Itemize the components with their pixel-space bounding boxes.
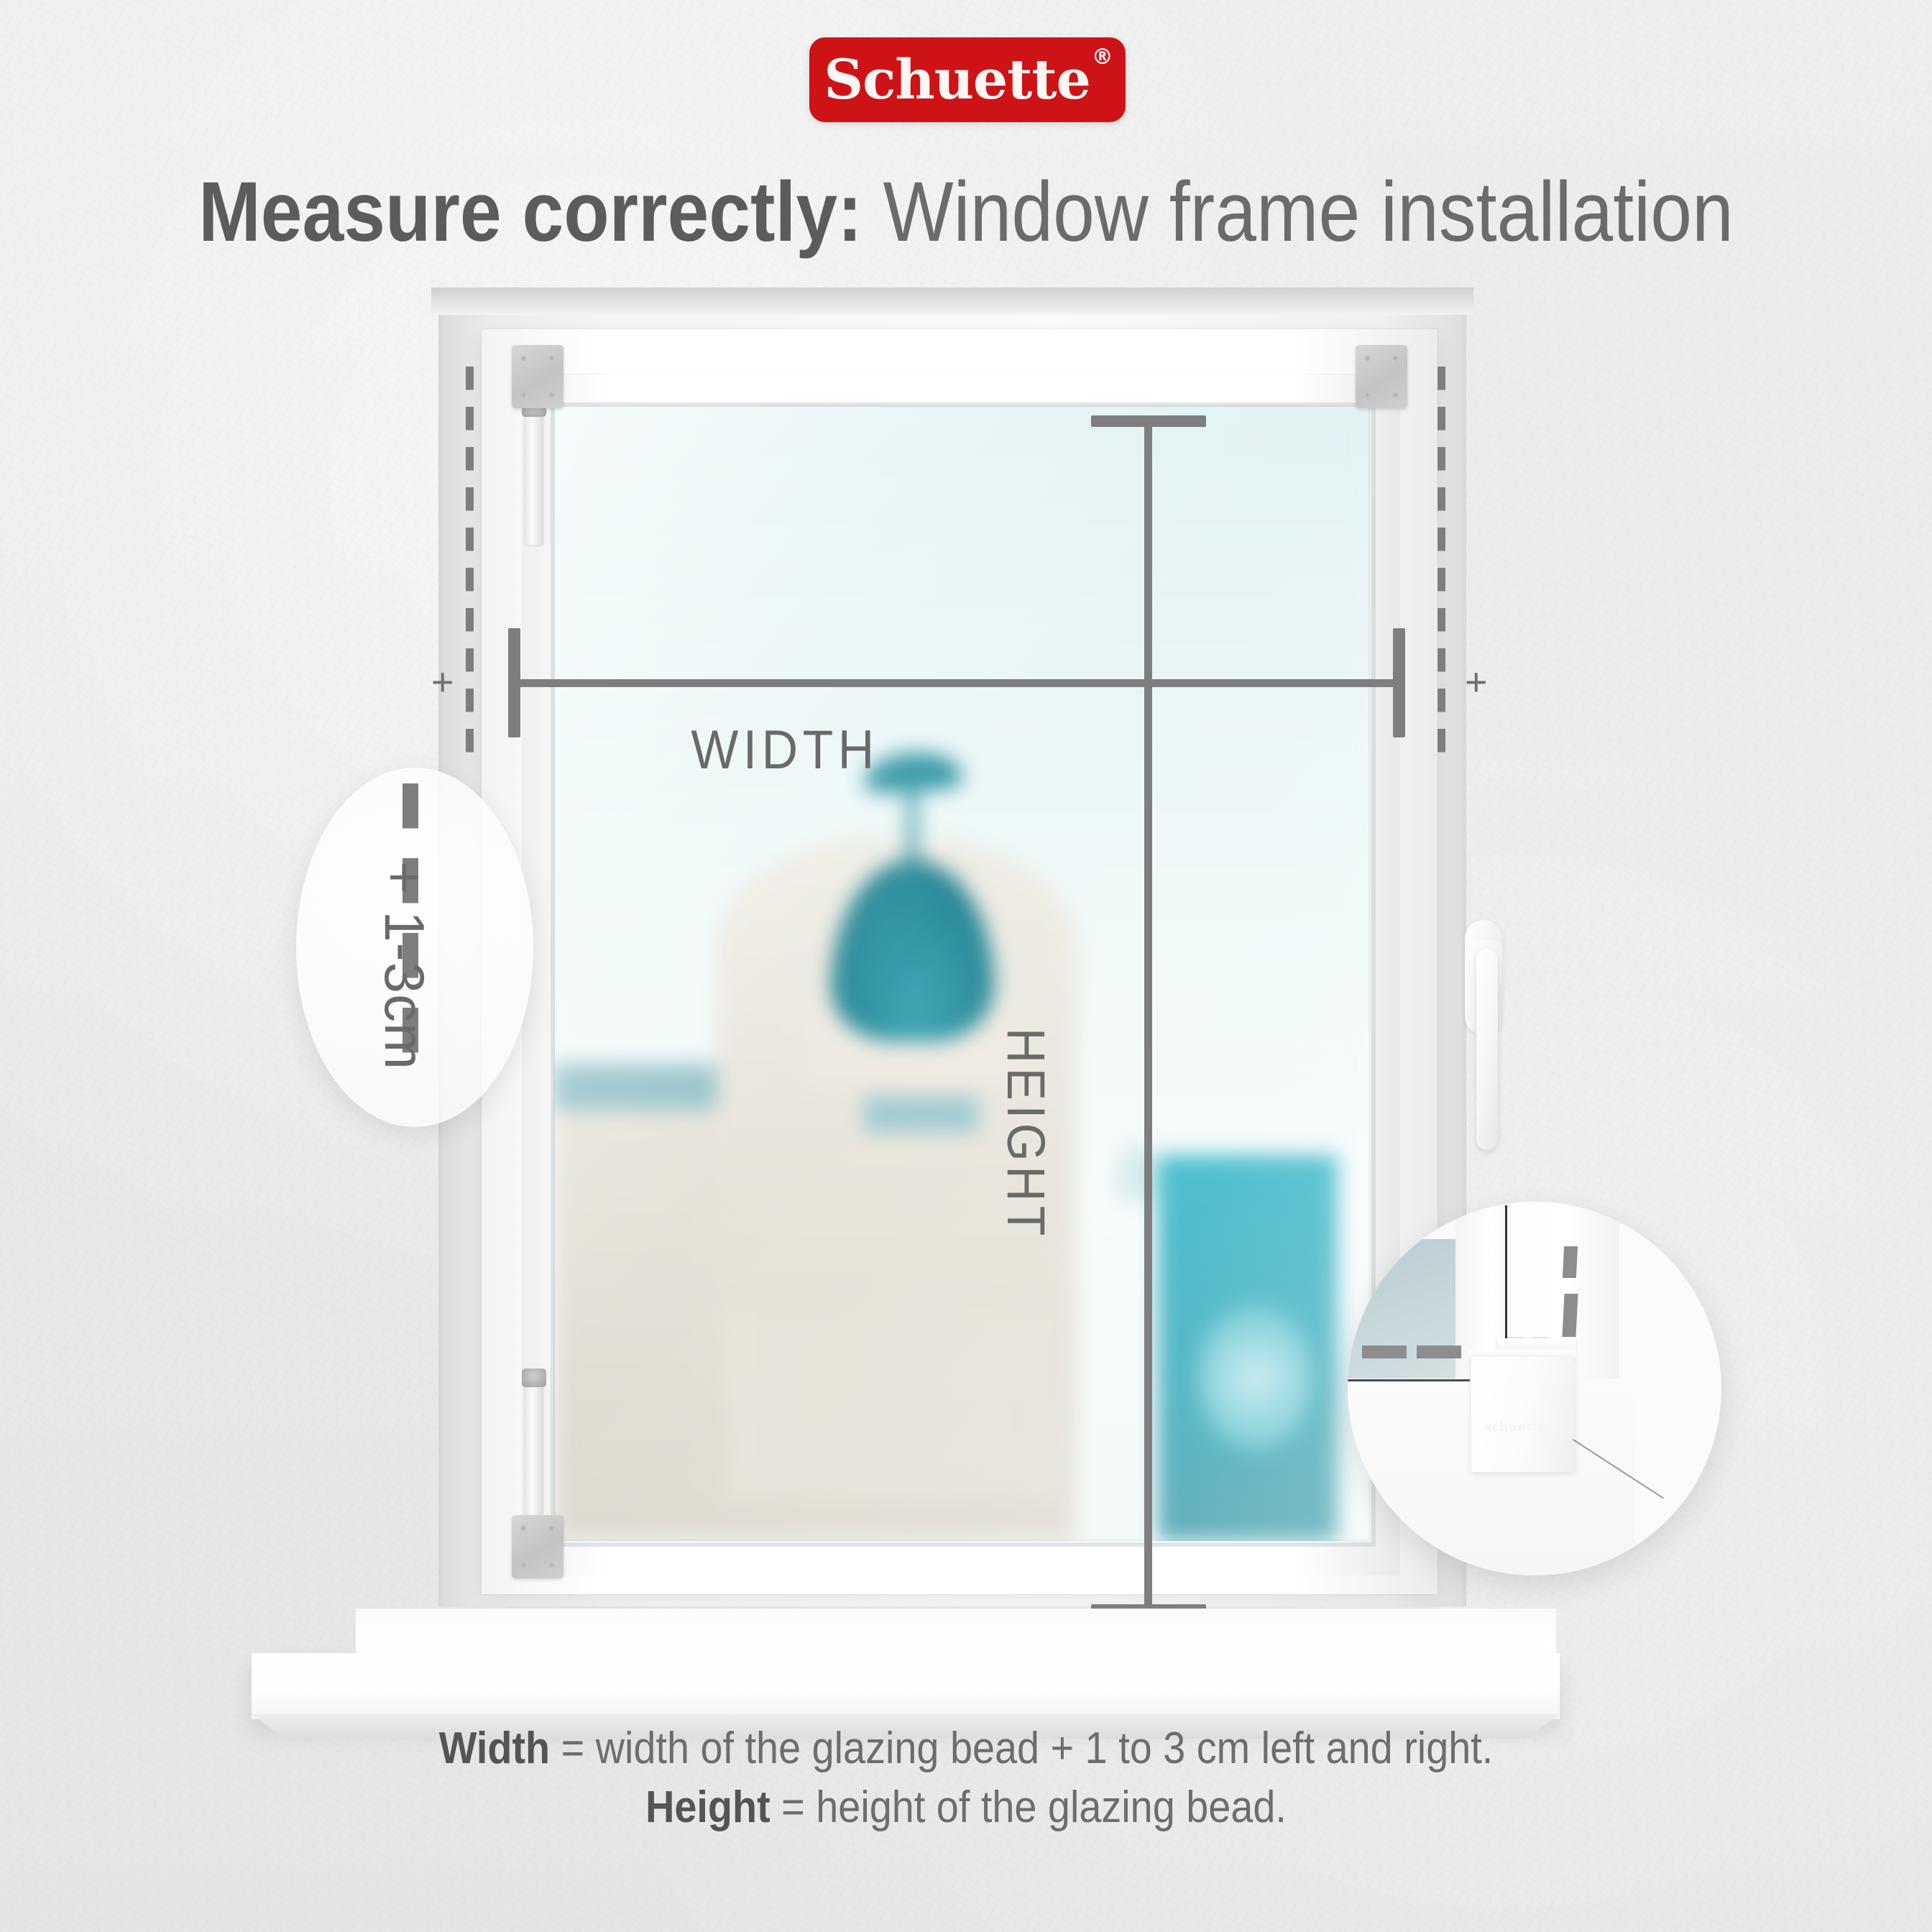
mounting-bracket-top-left bbox=[512, 345, 563, 408]
schuette-logo: Schuette® bbox=[809, 37, 1126, 122]
page-title-strong: Measure correctly: bbox=[198, 165, 862, 259]
magnified-dash-segment-2 bbox=[1562, 1294, 1578, 1337]
wall-reveal-lintel bbox=[431, 287, 1473, 315]
height-measure-bar bbox=[1144, 415, 1152, 1616]
tolerance-guide-right bbox=[1437, 367, 1445, 769]
magnified-frame-edge-line bbox=[1505, 1205, 1507, 1358]
window-diagram: WIDTH HEIGHT + + bbox=[410, 287, 1502, 1718]
billboard-circle bbox=[1198, 1302, 1312, 1450]
window-sash bbox=[522, 374, 1400, 1575]
cityscape-view bbox=[553, 405, 1370, 1541]
logo-wordmark: Schuette® bbox=[824, 52, 1111, 107]
caption-height: Height = height of the glazing bead. bbox=[96, 1778, 1835, 1837]
mounting-bracket-bottom-left bbox=[512, 1515, 563, 1578]
hinge-bottom-cap bbox=[522, 1368, 546, 1387]
magnifier-circle-bracket: schuette bbox=[1348, 1202, 1721, 1575]
roller-blind-bracket: schuette bbox=[1471, 1357, 1575, 1472]
caption-height-rest: = height of the glazing bead. bbox=[770, 1782, 1287, 1832]
caption-width-rest: = width of the glazing bead + 1 to 3 cm … bbox=[550, 1724, 1493, 1773]
magnifier-circle-tolerance: + 1-3cm bbox=[296, 768, 533, 1127]
magnifier-tolerance-content: + 1-3cm bbox=[296, 768, 533, 1127]
registered-trademark-icon: ® bbox=[1092, 45, 1113, 70]
window-sill bbox=[252, 1653, 1560, 1719]
window-outer-frame bbox=[482, 329, 1437, 1594]
magnified-bead-mark-2 bbox=[1417, 1345, 1461, 1358]
footer-captions: Width = width of the glazing bead + 1 to… bbox=[0, 1719, 1932, 1837]
tolerance-label: + 1-3cm bbox=[372, 861, 437, 1070]
window-handle-lever[interactable] bbox=[1476, 949, 1498, 1150]
hinge-bottom bbox=[525, 1386, 543, 1515]
plus-marker-left: + bbox=[431, 663, 454, 701]
building-colonnade bbox=[733, 1314, 1059, 1496]
page-title-light: Window frame installation bbox=[862, 165, 1734, 259]
caption-width: Width = width of the glazing bead + 1 to… bbox=[96, 1719, 1835, 1778]
plus-marker-right: + bbox=[1465, 663, 1488, 701]
caption-width-bold: Width bbox=[439, 1724, 550, 1773]
page-title: Measure correctly: Window frame installa… bbox=[116, 164, 1816, 262]
height-label: HEIGHT bbox=[995, 1028, 1057, 1241]
width-label: WIDTH bbox=[691, 719, 878, 781]
width-cap-right bbox=[1393, 628, 1405, 737]
magnified-dash-segment-1 bbox=[1563, 1246, 1578, 1278]
mounting-bracket-top-right bbox=[1356, 345, 1407, 408]
dome-band bbox=[864, 1096, 978, 1133]
magnified-bead-hairline bbox=[1348, 1379, 1470, 1381]
bracket-brand-text: schuette bbox=[1484, 1420, 1546, 1435]
caption-height-bold: Height bbox=[645, 1782, 770, 1832]
magnified-bead-mark-1 bbox=[1362, 1345, 1407, 1358]
hinge-top bbox=[525, 415, 543, 545]
width-measure-bar bbox=[508, 679, 1405, 687]
window-glass bbox=[553, 405, 1370, 1541]
tolerance-guide-left bbox=[466, 367, 474, 769]
